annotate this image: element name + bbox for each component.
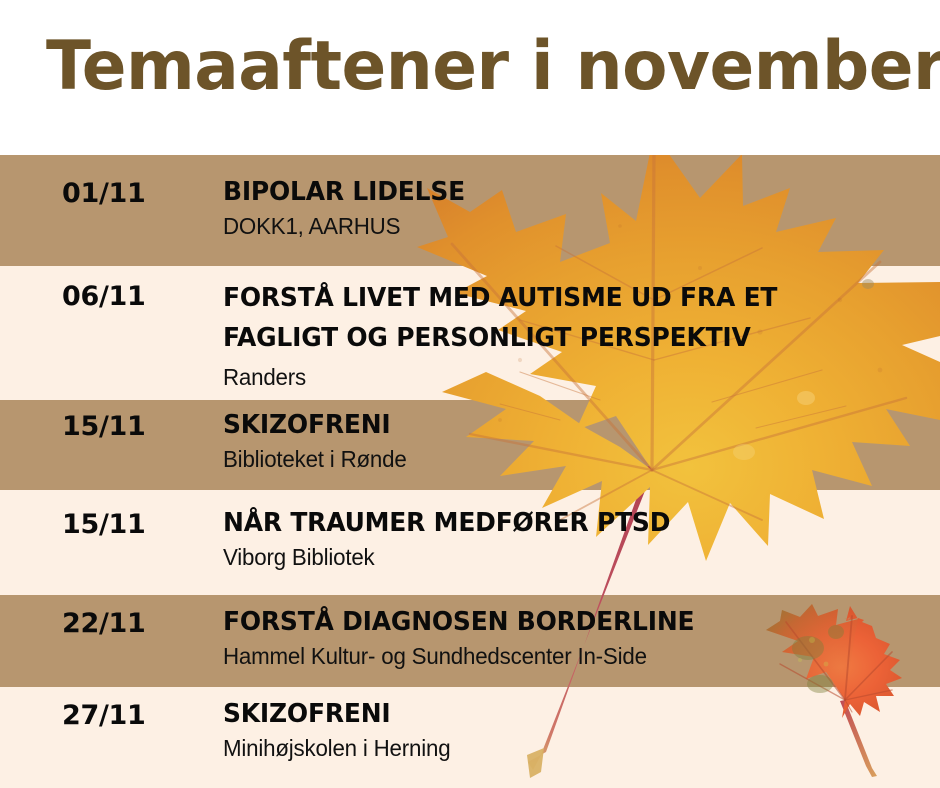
event-title: FORSTÅ LIVET MED AUTISME UD FRA ET FAGLI… bbox=[223, 278, 895, 358]
poster-canvas: Temaaftener i november 01/11 BIPOLAR LID… bbox=[0, 0, 940, 788]
event-row[interactable]: 06/11 FORSTÅ LIVET MED AUTISME UD FRA ET… bbox=[0, 266, 940, 400]
event-body: SKIZOFRENI Minihøjskolen i Herning bbox=[223, 697, 923, 763]
event-row[interactable]: 01/11 BIPOLAR LIDELSE DOKK1, AARHUS bbox=[0, 155, 940, 266]
event-row[interactable]: 15/11 NÅR TRAUMER MEDFØRER PTSD Viborg B… bbox=[0, 490, 940, 595]
event-venue: DOKK1, AARHUS bbox=[223, 211, 902, 241]
event-title: BIPOLAR LIDELSE bbox=[223, 175, 895, 209]
event-venue: Minihøjskolen i Herning bbox=[223, 733, 902, 763]
event-date: 15/11 bbox=[62, 510, 146, 540]
event-body: FORSTÅ LIVET MED AUTISME UD FRA ET FAGLI… bbox=[223, 278, 923, 392]
event-venue: Randers bbox=[223, 362, 902, 392]
event-row[interactable]: 22/11 FORSTÅ DIAGNOSEN BORDERLINE Hammel… bbox=[0, 595, 940, 687]
page-title: Temaaftener i november bbox=[46, 28, 940, 106]
event-row[interactable]: 27/11 SKIZOFRENI Minihøjskolen i Herning bbox=[0, 687, 940, 788]
event-date: 01/11 bbox=[62, 179, 146, 209]
title-band: Temaaftener i november bbox=[0, 0, 940, 155]
event-title: FORSTÅ DIAGNOSEN BORDERLINE bbox=[223, 605, 895, 639]
event-venue: Biblioteket i Rønde bbox=[223, 444, 902, 474]
event-venue: Viborg Bibliotek bbox=[223, 542, 902, 572]
event-title: NÅR TRAUMER MEDFØRER PTSD bbox=[223, 506, 895, 540]
event-date: 06/11 bbox=[62, 282, 146, 312]
event-date: 15/11 bbox=[62, 412, 146, 442]
event-date: 22/11 bbox=[62, 609, 146, 639]
event-body: SKIZOFRENI Biblioteket i Rønde bbox=[223, 408, 923, 474]
event-date: 27/11 bbox=[62, 701, 146, 731]
event-title: SKIZOFRENI bbox=[223, 697, 895, 731]
event-body: BIPOLAR LIDELSE DOKK1, AARHUS bbox=[223, 175, 923, 241]
event-body: NÅR TRAUMER MEDFØRER PTSD Viborg Bibliot… bbox=[223, 506, 923, 572]
event-title: SKIZOFRENI bbox=[223, 408, 895, 442]
event-venue: Hammel Kultur- og Sundhedscenter In-Side bbox=[223, 641, 902, 671]
event-body: FORSTÅ DIAGNOSEN BORDERLINE Hammel Kultu… bbox=[223, 605, 923, 671]
event-row[interactable]: 15/11 SKIZOFRENI Biblioteket i Rønde bbox=[0, 400, 940, 490]
